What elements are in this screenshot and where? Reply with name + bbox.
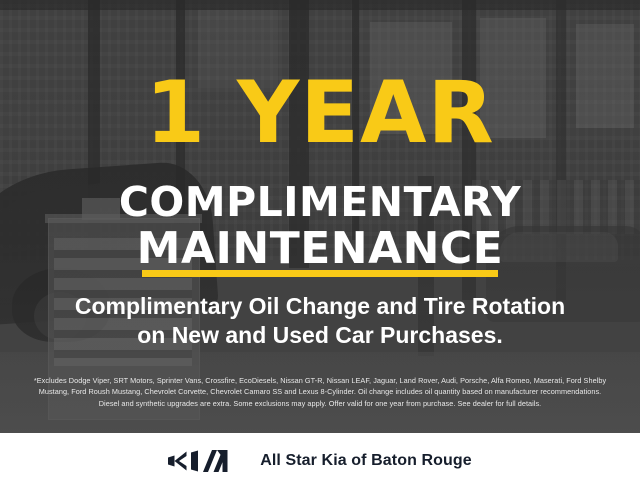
subheadline-line-2: on New and Used Car Purchases.	[20, 321, 620, 350]
headline-secondary-line-2: MAINTENANCE	[0, 227, 640, 271]
banner-content: 1 YEAR COMPLIMENTARY MAINTENANCE Complim…	[0, 0, 640, 433]
subheadline-line-1: Complimentary Oil Change and Tire Rotati…	[20, 292, 620, 321]
kia-logo-icon	[168, 450, 244, 472]
advertisement-banner: 1 YEAR COMPLIMENTARY MAINTENANCE Complim…	[0, 0, 640, 488]
dealer-name: All Star Kia of Baton Rouge	[260, 452, 472, 470]
subheadline: Complimentary Oil Change and Tire Rotati…	[20, 292, 620, 350]
hero-banner: 1 YEAR COMPLIMENTARY MAINTENANCE Complim…	[0, 0, 640, 433]
disclaimer-line-2: Mustang, Ford Roush Mustang, Chevrolet C…	[14, 386, 626, 397]
disclaimer-line-3: Diesel and synthetic upgrades are extra.…	[14, 398, 626, 409]
yellow-divider-rule	[142, 270, 498, 277]
headline-secondary-line-1: COMPLIMENTARY	[0, 182, 640, 223]
headline-primary: 1 YEAR	[0, 70, 640, 156]
disclaimer-line-1: *Excludes Dodge Viper, SRT Motors, Sprin…	[14, 375, 626, 386]
dealer-footer: All Star Kia of Baton Rouge	[0, 433, 640, 488]
disclaimer-text: *Excludes Dodge Viper, SRT Motors, Sprin…	[14, 375, 626, 409]
